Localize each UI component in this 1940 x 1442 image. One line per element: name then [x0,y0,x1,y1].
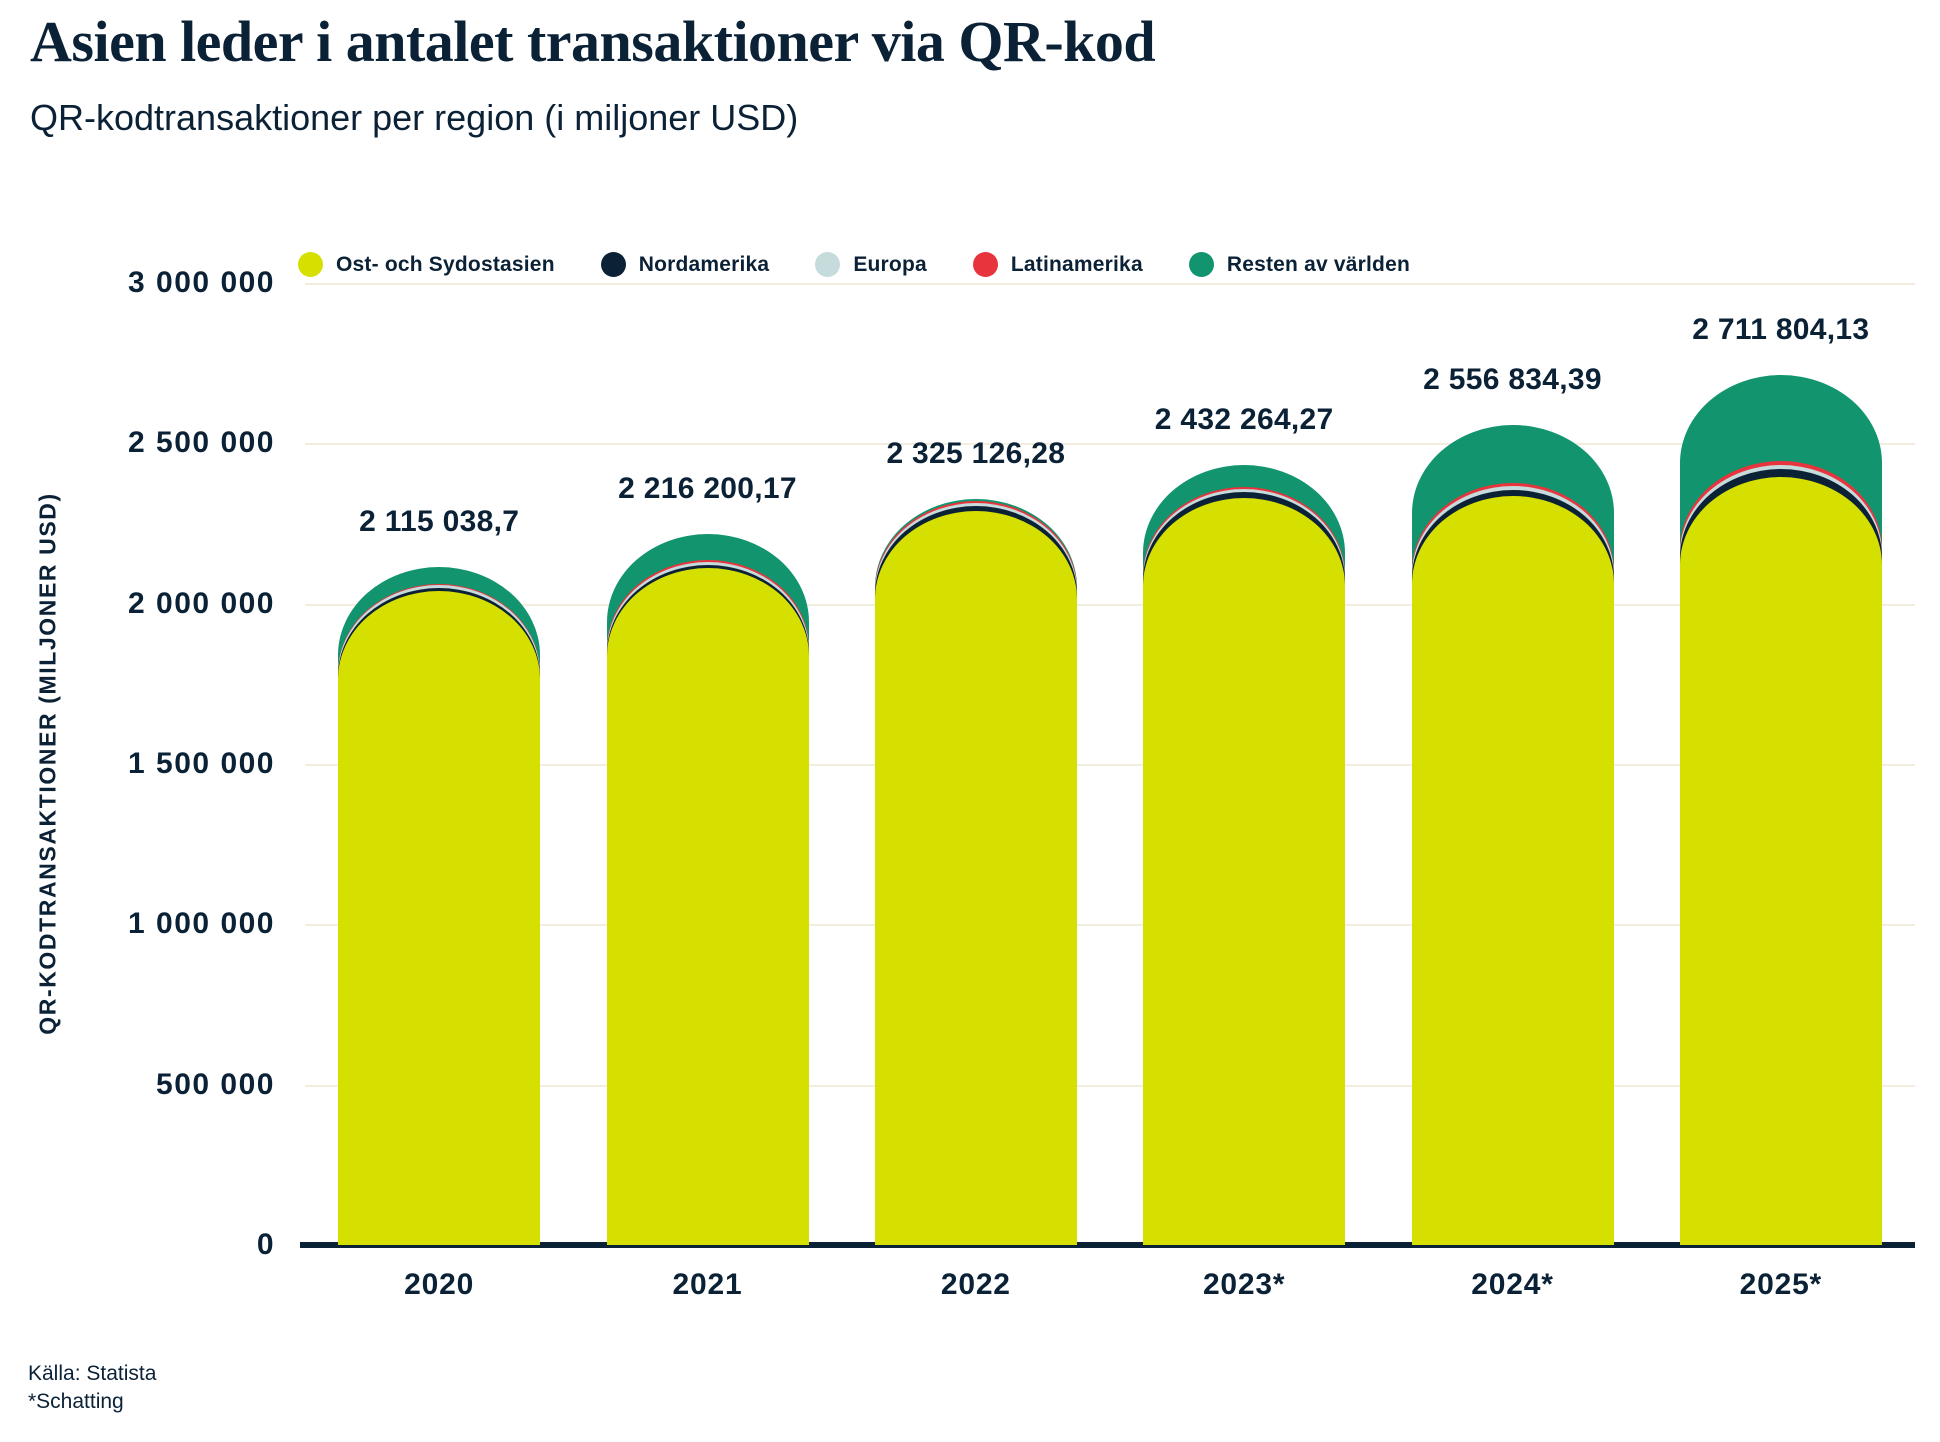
x-axis-tick-label: 2020 [404,1268,474,1302]
bar-value-label: 2 432 264,27 [1155,403,1334,437]
x-axis-tick-label: 2024* [1471,1268,1553,1302]
y-axis-tick-label: 1 000 000 [55,907,275,941]
bar-stack[interactable] [875,283,1077,1245]
y-axis-tick-label: 1 500 000 [55,747,275,781]
bar-segment [338,591,540,1245]
source-text: Källa: Statista [28,1360,156,1388]
gridline [305,443,1915,445]
x-axis-tick-label: 2021 [673,1268,743,1302]
gridline [305,604,1915,606]
x-axis-tick-label: 2023* [1203,1268,1285,1302]
gridline [305,764,1915,766]
x-axis-tick-label: 2025* [1740,1268,1822,1302]
bar-stack[interactable] [607,283,809,1245]
bar-segment [1412,496,1614,1245]
bar-stack[interactable] [1412,283,1614,1245]
bar-value-label: 2 216 200,17 [618,472,797,506]
gridline [305,924,1915,926]
bar-segment [1680,477,1882,1245]
bar-stack[interactable] [1680,283,1882,1245]
chart-footer: Källa: Statista *Schatting [28,1360,156,1417]
bar-value-label: 2 711 804,13 [1692,313,1869,347]
x-axis-tick-label: 2022 [941,1268,1011,1302]
gridline [305,283,1915,285]
y-axis-tick-label: 3 000 000 [55,266,275,300]
y-axis-tick-label: 2 000 000 [55,587,275,621]
gridline [305,1085,1915,1087]
estimate-note: *Schatting [28,1388,156,1416]
plot-area: QR-KODTRANSAKTIONER (MILJONER USD) 3 000… [0,0,1940,1442]
bar-value-label: 2 325 126,28 [886,437,1065,471]
bar-segment [875,511,1077,1245]
bar-segment [1143,498,1345,1245]
bar-segment [607,568,809,1245]
y-axis-tick-label: 2 500 000 [55,426,275,460]
bar-value-label: 2 556 834,39 [1423,363,1602,397]
y-axis-tick-label: 500 000 [55,1068,275,1102]
bar-value-label: 2 115 038,7 [359,505,519,539]
x-axis-line [300,1242,1915,1248]
bar-stack[interactable] [338,283,540,1245]
y-axis-tick-label: 0 [55,1228,275,1262]
